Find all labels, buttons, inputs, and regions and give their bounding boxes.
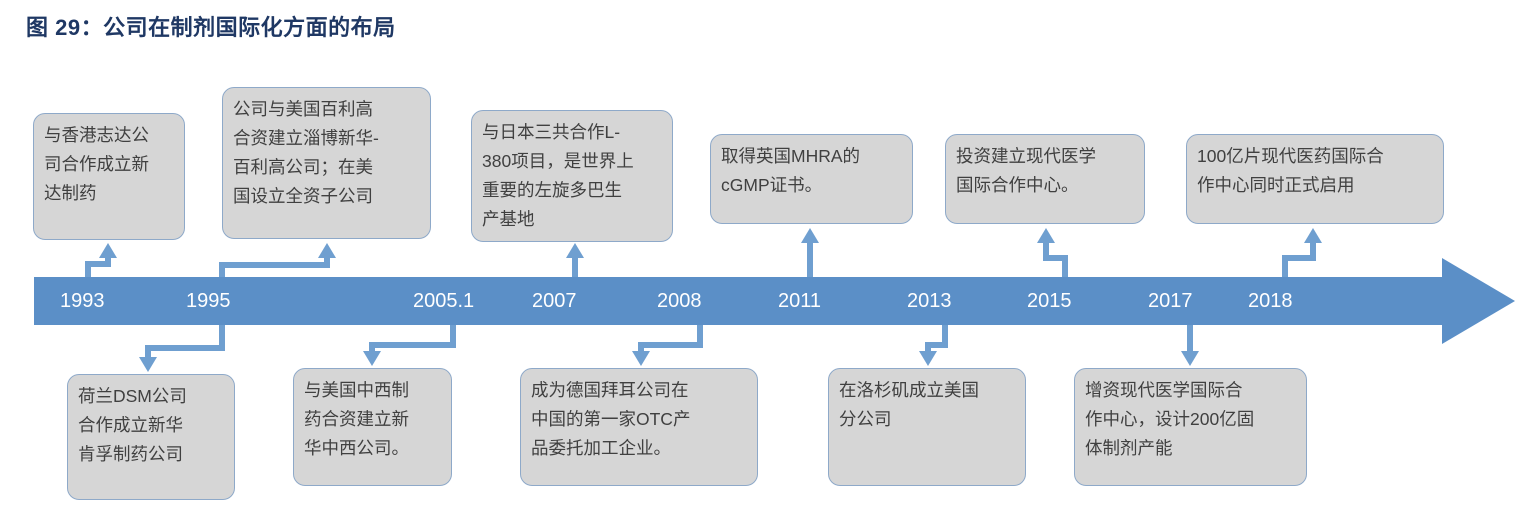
connector-2015-arrowhead-icon — [1037, 228, 1055, 243]
event-box-below-1995: 荷兰DSM公司 合作成立新华 肯孚制药公司 — [67, 374, 235, 500]
timeline-year-1995: 1995 — [186, 289, 231, 313]
connector-1993 — [88, 257, 108, 277]
connector-2005-down — [372, 325, 453, 352]
connector-1995-down — [148, 325, 222, 358]
connector-2017-down-arrowhead-icon — [1181, 351, 1199, 366]
diagram-canvas: 图 29：公司在制剂国际化方面的布局 199319952005.12007200… — [0, 0, 1518, 530]
timeline-year-2005-1: 2005.1 — [413, 289, 474, 313]
connector-2013-down-arrowhead-icon — [919, 351, 937, 366]
timeline-year-2008: 2008 — [657, 289, 702, 313]
connector-2005-down-arrowhead-icon — [363, 351, 381, 366]
event-box-above-2007: 与日本三共合作L- 380项目，是世界上 重要的左旋多巴生 产基地 — [471, 110, 673, 242]
connector-2008-down-arrowhead-icon — [632, 351, 650, 366]
timeline-arrowhead-icon — [1442, 258, 1515, 344]
timeline-year-2007: 2007 — [532, 289, 577, 313]
connector-2007-arrowhead-icon — [566, 243, 584, 258]
event-box-below-2008: 成为德国拜耳公司在 中国的第一家OTC产 品委托加工企业。 — [520, 368, 758, 486]
event-box-above-2015: 投资建立现代医学 国际合作中心。 — [945, 134, 1145, 224]
event-box-below-2017: 增资现代医学国际合 作中心，设计200亿固 体制剂产能 — [1074, 368, 1307, 486]
timeline-year-2011: 2011 — [778, 289, 821, 313]
event-box-above-1993: 与香港志达公 司合作成立新 达制药 — [33, 113, 185, 240]
connector-2013-down — [928, 325, 945, 352]
figure-title: 图 29：公司在制剂国际化方面的布局 — [26, 10, 396, 42]
connector-2015 — [1046, 242, 1065, 277]
timeline-year-2018: 2018 — [1248, 289, 1293, 313]
event-box-above-2018: 100亿片现代医药国际合 作中心同时正式启用 — [1186, 134, 1444, 224]
connector-1995-down-arrowhead-icon — [139, 357, 157, 372]
timeline-year-2015: 2015 — [1027, 289, 1072, 313]
timeline-year-2013: 2013 — [907, 289, 952, 313]
event-box-below-2005-1: 与美国中西制 药合资建立新 华中西公司。 — [293, 368, 452, 486]
connector-2011-arrowhead-icon — [801, 228, 819, 243]
connector-1993-arrowhead-icon — [99, 243, 117, 258]
timeline-bar — [34, 277, 1442, 325]
event-box-above-1995: 公司与美国百利高 合资建立淄博新华- 百利高公司；在美 国设立全资子公司 — [222, 87, 431, 239]
connector-2008-down — [641, 325, 700, 352]
connector-2018-arrowhead-icon — [1304, 228, 1322, 243]
event-box-below-2013: 在洛杉矶成立美国 分公司 — [828, 368, 1026, 486]
event-box-above-2011: 取得英国MHRA的 cGMP证书。 — [710, 134, 913, 224]
timeline-year-1993: 1993 — [60, 289, 105, 313]
connector-1995-arrowhead-icon — [318, 243, 336, 258]
timeline-year-2017: 2017 — [1148, 289, 1193, 313]
connector-1995 — [222, 257, 327, 277]
connector-2018 — [1285, 242, 1313, 277]
